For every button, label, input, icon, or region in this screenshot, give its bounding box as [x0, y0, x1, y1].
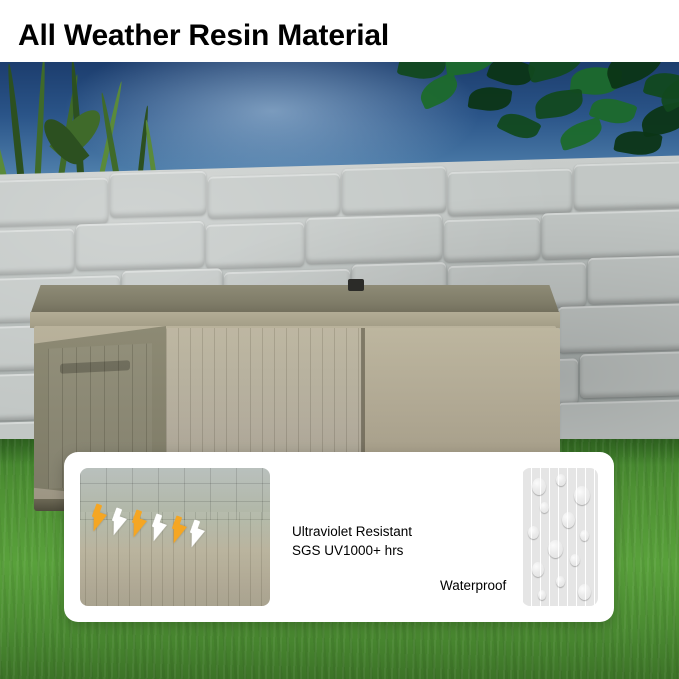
uv-ray-arrows — [88, 502, 218, 554]
waterproof-label: Waterproof — [440, 578, 506, 593]
waterproof-thumbnail — [522, 468, 598, 606]
title-band: All Weather Resin Material — [0, 0, 679, 62]
box-latch — [348, 279, 364, 291]
box-lid — [30, 285, 560, 315]
uv-feature-text: Ultraviolet Resistant SGS UV1000+ hrs — [292, 522, 412, 560]
uv-feature-line2: SGS UV1000+ hrs — [292, 541, 412, 560]
product-poster: All Weather Resin Material Ultr — [0, 0, 679, 679]
uv-resistance-thumbnail — [80, 468, 270, 606]
page-title: All Weather Resin Material — [18, 19, 389, 53]
uv-feature-line1: Ultraviolet Resistant — [292, 522, 412, 541]
feature-card: Ultraviolet Resistant SGS UV1000+ hrs Wa… — [64, 452, 614, 622]
